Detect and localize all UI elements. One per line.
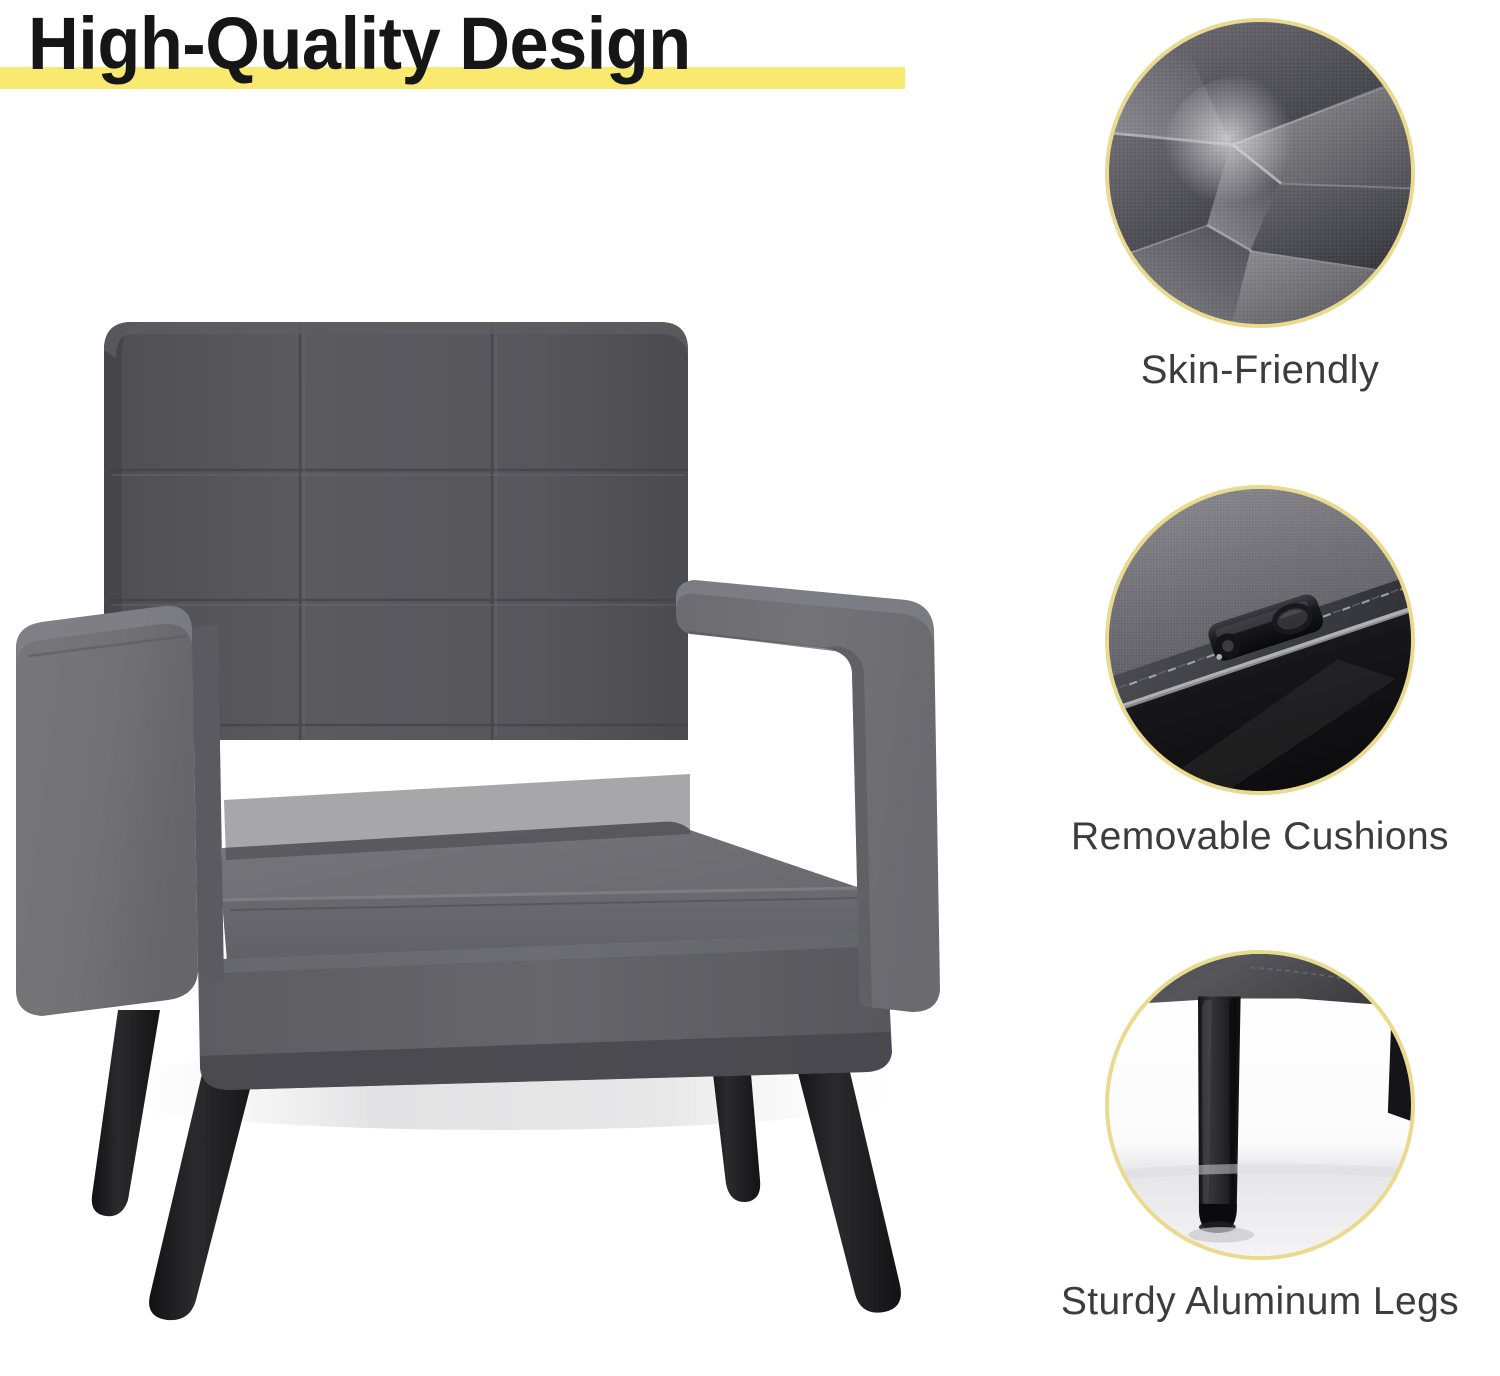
fabric-texture-closeup — [1105, 18, 1415, 328]
feature-skin-friendly-label: Skin-Friendly — [1050, 348, 1470, 393]
feature-removable-cushions: Removable Cushions — [1050, 485, 1470, 859]
product-feature-image: High-Quality Design — [0, 0, 1500, 1376]
feature-skin-friendly-circle — [1105, 18, 1415, 328]
feature-sturdy-aluminum-legs-circle — [1105, 950, 1415, 1260]
chair-leg-closeup — [1105, 950, 1415, 1260]
feature-removable-cushions-label: Removable Cushions — [1050, 815, 1470, 859]
armrest-left — [16, 606, 224, 1016]
zipper-closeup — [1105, 485, 1415, 795]
page-title: High-Quality Design — [28, 0, 691, 94]
side-leg-right — [1388, 1006, 1415, 1122]
chair-graphic — [0, 300, 1000, 1350]
center-leg — [1198, 997, 1241, 1233]
feature-removable-cushions-circle — [1105, 485, 1415, 795]
chair-product-illustration — [0, 300, 1000, 1350]
feature-skin-friendly: Skin-Friendly — [1050, 18, 1470, 393]
leg-back-left — [92, 1010, 160, 1216]
feature-sturdy-aluminum-legs: Sturdy Aluminum Legs — [1050, 950, 1470, 1324]
header: High-Quality Design — [0, 0, 960, 115]
feature-sturdy-aluminum-legs-label: Sturdy Aluminum Legs — [1050, 1280, 1470, 1324]
